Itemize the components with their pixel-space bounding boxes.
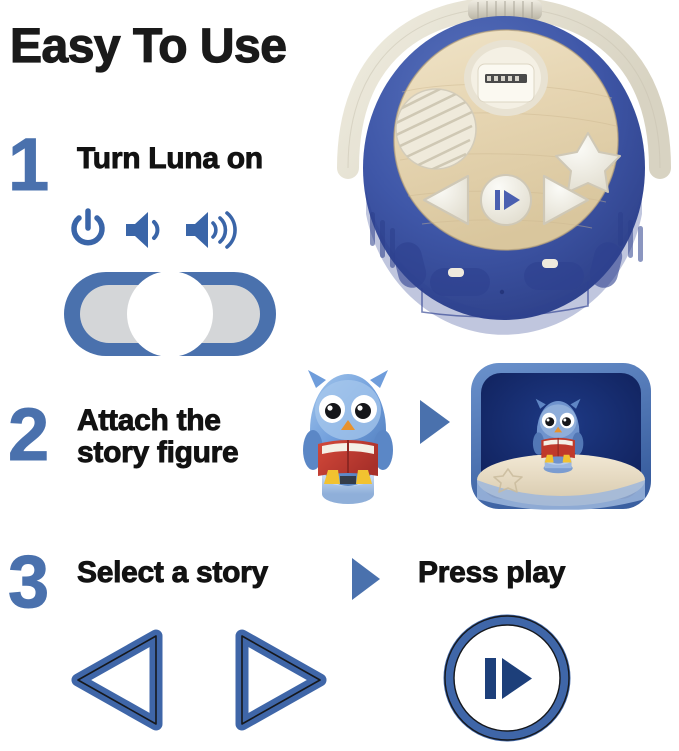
- power-toggle-switch[interactable]: [64, 272, 276, 356]
- volume-high-icon: [182, 208, 242, 252]
- volume-low-icon: [122, 208, 168, 252]
- reset-pinhole: [500, 290, 504, 294]
- power-icon: [68, 208, 108, 252]
- next-triangle-button[interactable]: [208, 614, 338, 746]
- step-number-3: 3: [8, 545, 49, 619]
- luna-speaker-device: [330, 0, 679, 356]
- figure-connector-port: [464, 40, 548, 116]
- power-volume-icon-row: [68, 208, 242, 252]
- play-bar: [485, 658, 496, 699]
- page-title: Easy To Use: [10, 23, 286, 71]
- step-number-2: 2: [8, 398, 49, 472]
- step-title-3-secondary: Press play: [418, 557, 565, 589]
- step-number-1: 1: [8, 128, 49, 202]
- play-button: [481, 175, 531, 225]
- owl-figurine: [296, 358, 400, 508]
- toggle-track: [80, 285, 260, 343]
- toggle-knob[interactable]: [127, 271, 213, 357]
- infographic-page: Easy To Use 1 Turn Luna on: [0, 0, 679, 751]
- figure-attached-preview: [470, 362, 652, 510]
- step-title-2: Attach the story figure: [77, 405, 238, 470]
- play-button[interactable]: [437, 608, 577, 748]
- arrow-right-icon-step2: [418, 398, 452, 446]
- arrow-right-icon-step3: [350, 556, 382, 602]
- step-title-3: Select a story: [77, 557, 268, 589]
- step-title-1: Turn Luna on: [77, 143, 263, 175]
- previous-triangle-button[interactable]: [60, 614, 190, 746]
